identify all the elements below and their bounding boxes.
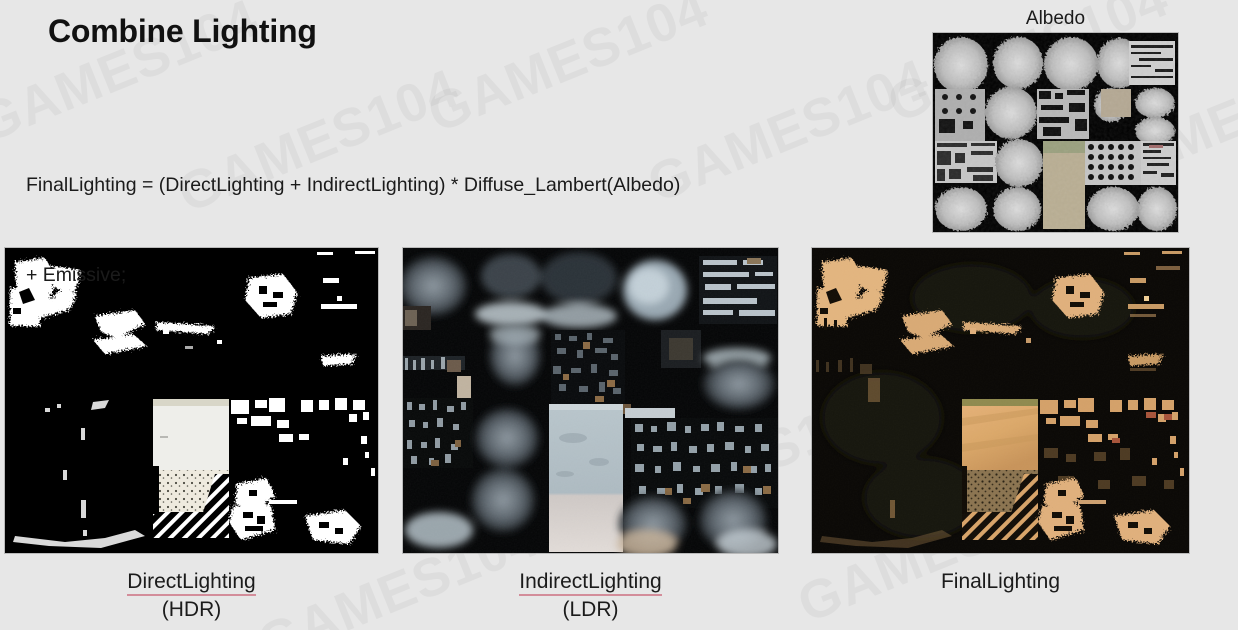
page-title: Combine Lighting bbox=[48, 13, 317, 50]
indirect-lighting-caption-line-1: IndirectLighting bbox=[519, 570, 661, 596]
final-lighting-caption-line-1: FinalLighting bbox=[812, 568, 1189, 596]
final-lighting-graphic bbox=[812, 248, 1189, 553]
albedo-atlas-graphic bbox=[933, 33, 1178, 232]
formula-line-1: FinalLighting = (DirectLighting + Indire… bbox=[26, 170, 680, 200]
formula-line-2: + Emissive; bbox=[26, 260, 680, 290]
direct-lighting-caption-line-2: (HDR) bbox=[5, 596, 378, 624]
lighting-formula: FinalLighting = (DirectLighting + Indire… bbox=[26, 110, 680, 320]
indirect-lighting-caption-line-2: (LDR) bbox=[403, 596, 778, 624]
albedo-caption: Albedo bbox=[933, 8, 1178, 30]
final-lighting-image bbox=[812, 248, 1189, 553]
albedo-texture-atlas bbox=[933, 33, 1178, 232]
direct-lighting-caption: DirectLighting (HDR) bbox=[5, 568, 378, 624]
final-lighting-caption: FinalLighting bbox=[812, 568, 1189, 596]
direct-lighting-caption-line-1: DirectLighting bbox=[127, 570, 255, 596]
watermark-text: GAMES104 bbox=[639, 47, 937, 215]
indirect-lighting-caption: IndirectLighting (LDR) bbox=[403, 568, 778, 624]
